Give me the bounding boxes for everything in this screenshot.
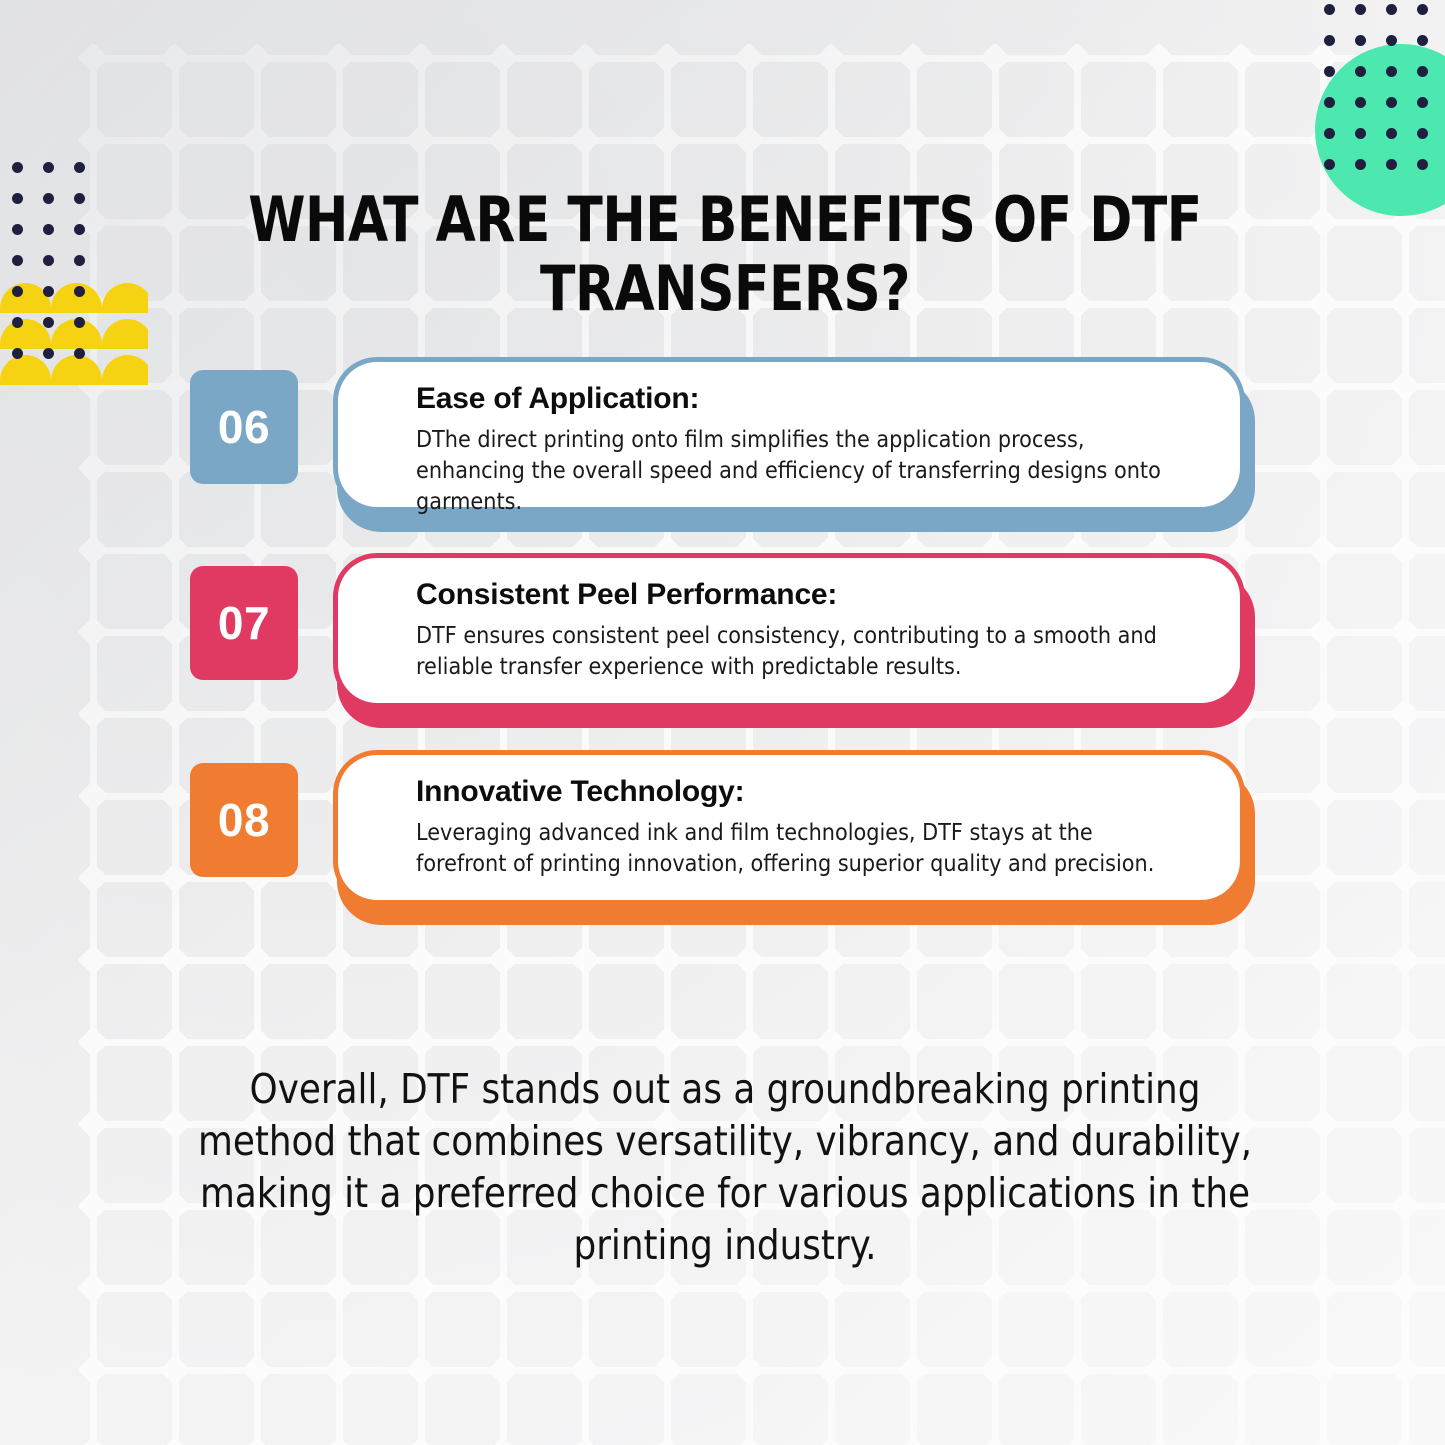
decorative-dot xyxy=(1324,128,1335,139)
decorative-dot xyxy=(1324,4,1335,15)
benefit-card-row: 06Ease of Application:DThe direct printi… xyxy=(0,357,1445,532)
grid-diamond xyxy=(569,1272,600,1303)
grid-diamond xyxy=(1389,1436,1420,1445)
decorative-dot xyxy=(1386,159,1397,170)
grid-diamond xyxy=(323,944,354,975)
grid-diamond xyxy=(1061,1272,1092,1303)
grid-diamond xyxy=(487,1436,518,1445)
decorative-dot xyxy=(12,193,23,204)
grid-diamond xyxy=(979,1272,1010,1303)
decorative-dot xyxy=(1417,159,1428,170)
grid-diamond xyxy=(159,1354,190,1385)
dot-grid-top-right xyxy=(1324,4,1445,174)
card-surface: Consistent Peel Performance:DTF ensures … xyxy=(333,553,1245,708)
grid-diamond xyxy=(159,1026,190,1057)
decorative-dot xyxy=(1386,4,1397,15)
grid-diamond xyxy=(1061,124,1092,155)
grid-diamond xyxy=(159,1436,190,1445)
grid-diamond xyxy=(159,944,190,975)
grid-diamond xyxy=(487,944,518,975)
grid-diamond xyxy=(1307,1190,1338,1221)
grid-diamond xyxy=(159,1272,190,1303)
decorative-dot xyxy=(1355,35,1366,46)
grid-diamond xyxy=(1143,124,1174,155)
decorative-dot xyxy=(1355,128,1366,139)
decorative-dot xyxy=(1417,35,1428,46)
benefit-card-row: 07Consistent Peel Performance:DTF ensure… xyxy=(0,553,1445,728)
grid-diamond xyxy=(569,1436,600,1445)
grid-diamond xyxy=(979,1436,1010,1445)
grid-diamond xyxy=(1225,1272,1256,1303)
grid-diamond xyxy=(979,944,1010,975)
benefit-card-row: 08Innovative Technology:Leveraging advan… xyxy=(0,750,1445,925)
grid-diamond xyxy=(1143,944,1174,975)
grid-diamond xyxy=(487,1026,518,1057)
grid-diamond xyxy=(733,1354,764,1385)
decorative-dot xyxy=(43,162,54,173)
grid-diamond xyxy=(651,1272,682,1303)
grid-diamond xyxy=(1389,288,1420,319)
grid-diamond xyxy=(651,1026,682,1057)
grid-diamond xyxy=(1225,1026,1256,1057)
decorative-dot xyxy=(1386,97,1397,108)
grid-diamond xyxy=(1061,944,1092,975)
grid-diamond xyxy=(159,206,190,237)
grid-diamond xyxy=(1143,1026,1174,1057)
grid-diamond xyxy=(815,1354,846,1385)
grid-diamond xyxy=(733,1436,764,1445)
card-title: Ease of Application: xyxy=(416,382,1198,415)
grid-diamond xyxy=(1389,944,1420,975)
benefit-card: Consistent Peel Performance:DTF ensures … xyxy=(333,553,1255,728)
decorative-dot xyxy=(1417,97,1428,108)
card-title: Innovative Technology: xyxy=(416,775,1198,808)
grid-diamond xyxy=(241,1436,272,1445)
grid-diamond xyxy=(1225,944,1256,975)
grid-diamond xyxy=(487,124,518,155)
decorative-dot xyxy=(1355,159,1366,170)
grid-diamond xyxy=(323,1026,354,1057)
grid-diamond xyxy=(159,1108,190,1139)
grid-diamond xyxy=(1143,1354,1174,1385)
grid-diamond xyxy=(405,1272,436,1303)
decorative-dot xyxy=(74,193,85,204)
dot-grid-left xyxy=(12,162,112,377)
grid-diamond xyxy=(733,1272,764,1303)
grid-diamond xyxy=(569,1354,600,1385)
grid-diamond xyxy=(733,944,764,975)
grid-diamond xyxy=(1307,1272,1338,1303)
grid-diamond xyxy=(897,1354,928,1385)
grid-diamond xyxy=(1389,1190,1420,1221)
decorative-dot xyxy=(74,224,85,235)
card-number-badge-08: 08 xyxy=(190,763,298,877)
grid-diamond xyxy=(241,1354,272,1385)
decorative-dot xyxy=(43,286,54,297)
grid-diamond xyxy=(897,1272,928,1303)
decorative-dot xyxy=(1417,4,1428,15)
grid-diamond xyxy=(1143,1436,1174,1445)
decorative-dot xyxy=(12,224,23,235)
grid-diamond xyxy=(159,1190,190,1221)
decorative-dot xyxy=(74,317,85,328)
summary-paragraph: Overall, DTF stands out as a groundbreak… xyxy=(196,1063,1253,1271)
grid-diamond xyxy=(405,124,436,155)
grid-diamond xyxy=(241,124,272,155)
grid-diamond xyxy=(651,944,682,975)
grid-diamond xyxy=(815,1272,846,1303)
grid-diamond xyxy=(979,1026,1010,1057)
benefit-card: Ease of Application:DThe direct printing… xyxy=(333,357,1255,532)
grid-diamond xyxy=(897,124,928,155)
grid-diamond xyxy=(405,1026,436,1057)
page-title: WHAT ARE THE BENEFITS OF DTF TRANSFERS? xyxy=(218,185,1232,324)
grid-diamond xyxy=(1389,1026,1420,1057)
decorative-dot xyxy=(74,162,85,173)
decorative-dot xyxy=(1417,128,1428,139)
grid-diamond xyxy=(1225,1354,1256,1385)
grid-diamond xyxy=(1061,1436,1092,1445)
decorative-dot xyxy=(1355,97,1366,108)
grid-diamond xyxy=(159,124,190,155)
grid-diamond xyxy=(1225,1436,1256,1445)
grid-diamond xyxy=(815,944,846,975)
decorative-dot xyxy=(12,162,23,173)
grid-diamond xyxy=(651,1354,682,1385)
grid-diamond xyxy=(487,1272,518,1303)
grid-diamond xyxy=(323,1272,354,1303)
decorative-dot xyxy=(1324,159,1335,170)
grid-diamond xyxy=(1307,288,1338,319)
grid-diamond xyxy=(897,1026,928,1057)
decorative-dot xyxy=(1386,66,1397,77)
decorative-dot xyxy=(1355,4,1366,15)
decorative-dot xyxy=(1386,35,1397,46)
grid-diamond xyxy=(323,124,354,155)
grid-diamond xyxy=(1307,206,1338,237)
grid-diamond xyxy=(241,1026,272,1057)
grid-diamond xyxy=(815,124,846,155)
grid-diamond xyxy=(1307,1354,1338,1385)
grid-diamond xyxy=(241,1272,272,1303)
decorative-dot xyxy=(1355,66,1366,77)
grid-diamond xyxy=(733,124,764,155)
decorative-dot xyxy=(43,255,54,266)
decorative-dot xyxy=(43,224,54,235)
grid-diamond xyxy=(569,944,600,975)
grid-diamond xyxy=(733,1026,764,1057)
grid-diamond xyxy=(1061,1354,1092,1385)
card-description: DTF ensures consistent peel consistency,… xyxy=(416,620,1186,682)
grid-diamond xyxy=(1225,124,1256,155)
card-number-badge-06: 06 xyxy=(190,370,298,484)
decorative-dot xyxy=(74,286,85,297)
decorative-dot xyxy=(12,286,23,297)
card-description: Leveraging advanced ink and film technol… xyxy=(416,817,1186,879)
grid-diamond xyxy=(159,288,190,319)
grid-diamond xyxy=(569,1026,600,1057)
grid-diamond xyxy=(1307,1108,1338,1139)
decorative-dot xyxy=(43,317,54,328)
grid-diamond xyxy=(241,944,272,975)
card-number-badge-07: 07 xyxy=(190,566,298,680)
grid-diamond xyxy=(815,1026,846,1057)
grid-diamond xyxy=(651,1436,682,1445)
grid-diamond xyxy=(1307,1026,1338,1057)
card-title: Consistent Peel Performance: xyxy=(416,578,1198,611)
decorative-dot xyxy=(1324,66,1335,77)
card-surface: Innovative Technology:Leveraging advance… xyxy=(333,750,1245,905)
decorative-dot xyxy=(1324,35,1335,46)
grid-diamond xyxy=(651,124,682,155)
card-description: DThe direct printing onto film simplifie… xyxy=(416,424,1186,517)
infographic-poster: WHAT ARE THE BENEFITS OF DTF TRANSFERS? … xyxy=(0,0,1445,1445)
grid-diamond xyxy=(1389,1108,1420,1139)
decorative-dot xyxy=(12,317,23,328)
grid-diamond xyxy=(405,944,436,975)
benefit-card: Innovative Technology:Leveraging advance… xyxy=(333,750,1255,925)
card-surface: Ease of Application:DThe direct printing… xyxy=(333,357,1245,512)
grid-diamond xyxy=(1307,1436,1338,1445)
grid-diamond xyxy=(1061,1026,1092,1057)
grid-diamond xyxy=(1143,1272,1174,1303)
grid-diamond xyxy=(569,124,600,155)
grid-diamond xyxy=(323,1354,354,1385)
grid-diamond xyxy=(1307,944,1338,975)
decorative-dot xyxy=(1386,128,1397,139)
grid-diamond xyxy=(405,1436,436,1445)
decorative-dot xyxy=(43,193,54,204)
grid-diamond xyxy=(897,944,928,975)
decorative-dot xyxy=(1324,97,1335,108)
grid-diamond xyxy=(323,1436,354,1445)
grid-diamond xyxy=(815,1436,846,1445)
grid-diamond xyxy=(1389,1272,1420,1303)
grid-diamond xyxy=(897,1436,928,1445)
decorative-dot xyxy=(74,255,85,266)
grid-diamond xyxy=(979,124,1010,155)
decorative-dot xyxy=(1417,66,1428,77)
grid-diamond xyxy=(979,1354,1010,1385)
grid-diamond xyxy=(487,1354,518,1385)
grid-diamond xyxy=(405,1354,436,1385)
decorative-dot xyxy=(12,255,23,266)
grid-diamond xyxy=(1389,1354,1420,1385)
